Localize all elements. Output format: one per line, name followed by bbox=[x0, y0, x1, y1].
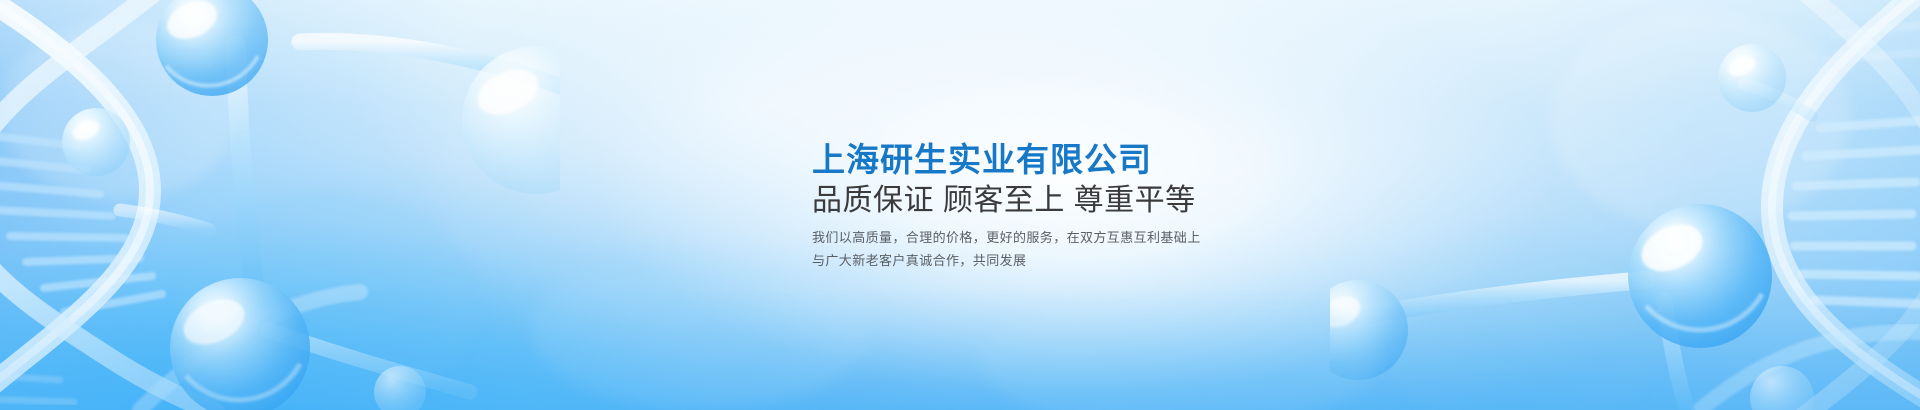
company-description-line-2: 与广大新老客户真诚合作，共同发展 bbox=[812, 249, 1572, 272]
background-haze bbox=[530, 250, 1380, 410]
dna-helix-right bbox=[1700, 0, 1920, 410]
company-slogan: 品质保证 顾客至上 尊重平等 bbox=[812, 182, 1572, 220]
molecule-spheres-left bbox=[62, 0, 610, 410]
company-description-line-1: 我们以高质量，合理的价格，更好的服务，在双方互惠互利基础上 bbox=[812, 226, 1572, 249]
dna-helix-left bbox=[0, 0, 360, 410]
company-hero-banner: 上海研生实业有限公司 品质保证 顾客至上 尊重平等 我们以高质量，合理的价格，更… bbox=[0, 0, 1920, 410]
molecule-cluster-left bbox=[0, 0, 610, 410]
company-name-headline: 上海研生实业有限公司 bbox=[812, 140, 1572, 180]
molecule-bonds-left bbox=[120, 41, 560, 392]
banner-copy-block: 上海研生实业有限公司 品质保证 顾客至上 尊重平等 我们以高质量，合理的价格，更… bbox=[812, 140, 1572, 272]
